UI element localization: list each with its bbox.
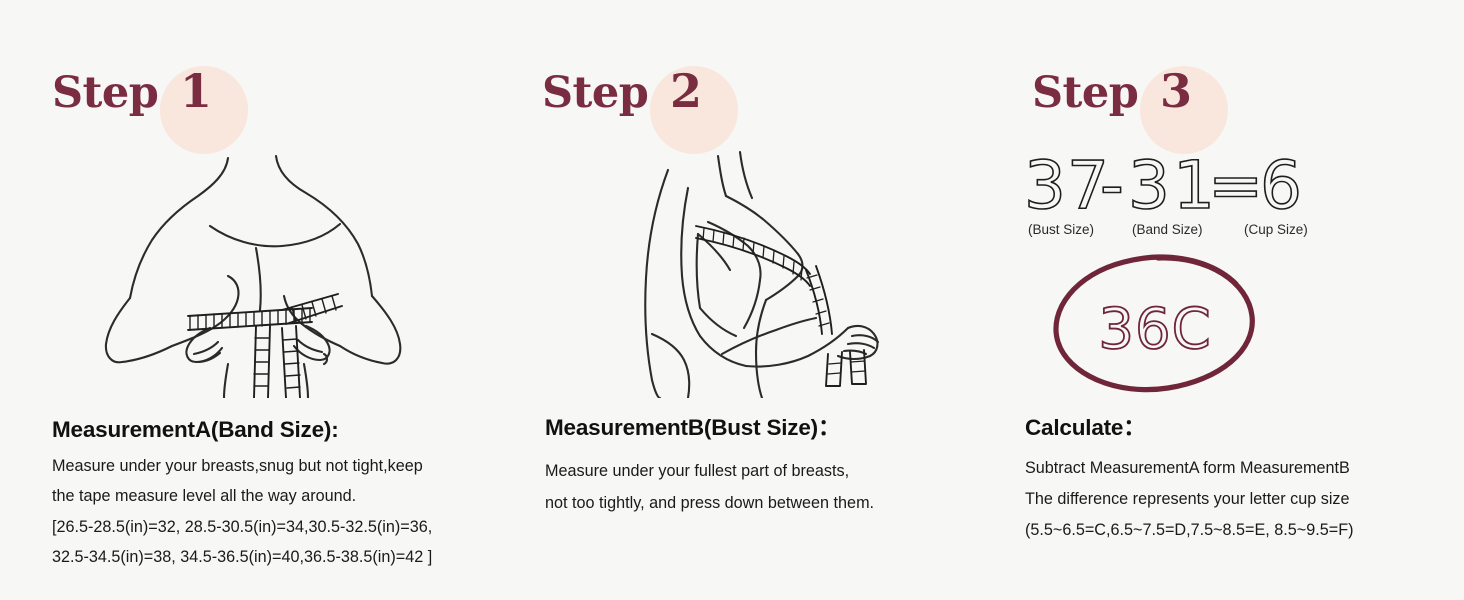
step-3-heading: Step 3 [1032,66,1332,138]
formula-bust-value: 37 [1024,150,1110,222]
formula-label-row: (Bust Size) (Band Size) (Cup Size) [1022,222,1332,246]
step-3-caption-line-1: Subtract MeasurementA form MeasurementB [1025,453,1464,484]
result-badge-svg: 36C [1040,252,1270,397]
step-2-caption-line-1: Measure under your fullest part of breas… [545,455,1015,487]
step-3-number: 3 [1160,68,1192,114]
step-3-word: Step [1032,72,1138,115]
step-1-caption-line-3: [26.5-28.5(in)=32, 28.5-30.5(in)=34,30.5… [52,512,522,542]
step-2-word: Step [542,72,648,115]
step-3-caption-title: Calculate： [1025,414,1464,441]
formula-label-band: (Band Size) [1132,222,1203,237]
step-3-caption: Calculate： Subtract MeasurementA form Me… [1025,414,1464,546]
step-1-number: 1 [180,68,212,114]
cup-size-formula: 37 - 31 = 6 (Bust Size) (Band Size) (Cup… [1022,150,1342,260]
formula-band-value: 31 [1128,150,1218,222]
result-badge-text: 36C [1098,297,1211,362]
step-2-caption-line-2: not too tightly, and press down between … [545,487,1015,519]
step-1-caption-title: MeasurementA(Band Size): [52,416,522,443]
step-3-caption-line-3: (5.5~6.5=C,6.5~7.5=D,7.5~8.5=E, 8.5~9.5=… [1025,515,1464,546]
step-1-heading: Step 1 [52,66,352,138]
size-guide-infographic: Step 1 [0,0,1464,600]
step-1-caption-line-1: Measure under your breasts,snug but not … [52,451,522,481]
illustration-band-measure [60,148,480,398]
formula-cup-value: 6 [1260,150,1302,222]
illustration-bust-measure [600,148,930,398]
step-column-1: Step 1 [0,0,490,600]
step-3-caption-line-2: The difference represents your letter cu… [1025,484,1464,515]
step-1-caption-line-4: 32.5-34.5(in)=38, 34.5-36.5(in)=40,36.5-… [52,542,522,572]
step-2-caption: MeasurementB(Bust Size)： Measure under y… [545,414,1015,520]
step-2-number: 2 [670,68,702,114]
formula-glyphs: 37 - 31 = 6 [1022,150,1332,222]
step-2-heading: Step 2 [542,66,842,138]
formula-equals-sign: = [1208,150,1263,222]
formula-label-bust: (Bust Size) [1028,222,1094,237]
formula-label-cup: (Cup Size) [1244,222,1308,237]
step-2-caption-title: MeasurementB(Bust Size)： [545,414,1015,441]
formula-minus-sign: - [1100,150,1124,222]
step-1-caption-line-2: the tape measure level all the way aroun… [52,481,522,511]
result-badge-group: 36C [1040,252,1270,397]
step-1-word: Step [52,72,158,115]
step-1-caption: MeasurementA(Band Size): Measure under y… [52,416,522,573]
